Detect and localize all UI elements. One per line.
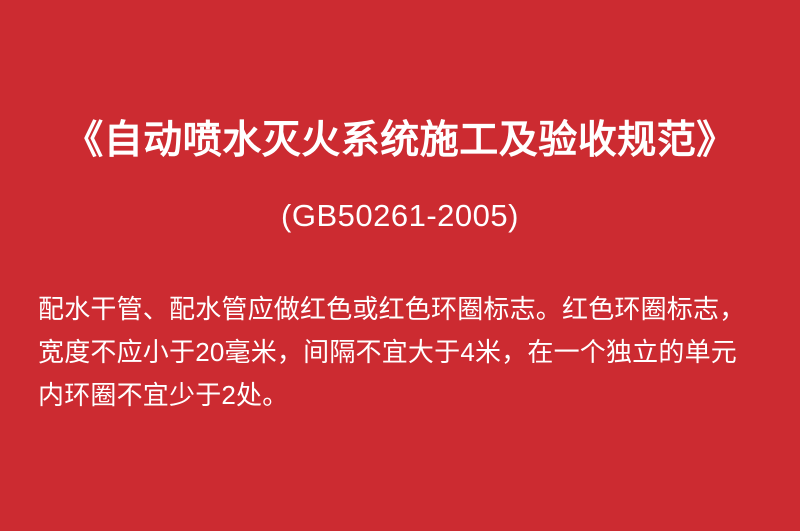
body-text-line: 配水干管、配水管应做红色或红色环圈标志。红色环圈标志， <box>38 288 768 331</box>
body-text-line: 宽度不应小于20毫米，间隔不宜大于4米，在一个独立的单元 <box>38 331 768 374</box>
title-block: 《自动喷水灭火系统施工及验收规范》 <box>0 118 800 164</box>
subtitle-block: (GB50261-2005) <box>0 197 800 234</box>
body-text-block: 配水干管、配水管应做红色或红色环圈标志。红色环圈标志， 宽度不应小于20毫米，间… <box>38 288 768 417</box>
body-text-line: 内环圈不宜少于2处。 <box>38 374 768 417</box>
slide-canvas: 《自动喷水灭火系统施工及验收规范》 (GB50261-2005) 配水干管、配水… <box>0 0 800 531</box>
standard-code-subtitle: (GB50261-2005) <box>0 197 800 234</box>
page-title: 《自动喷水灭火系统施工及验收规范》 <box>0 118 800 164</box>
